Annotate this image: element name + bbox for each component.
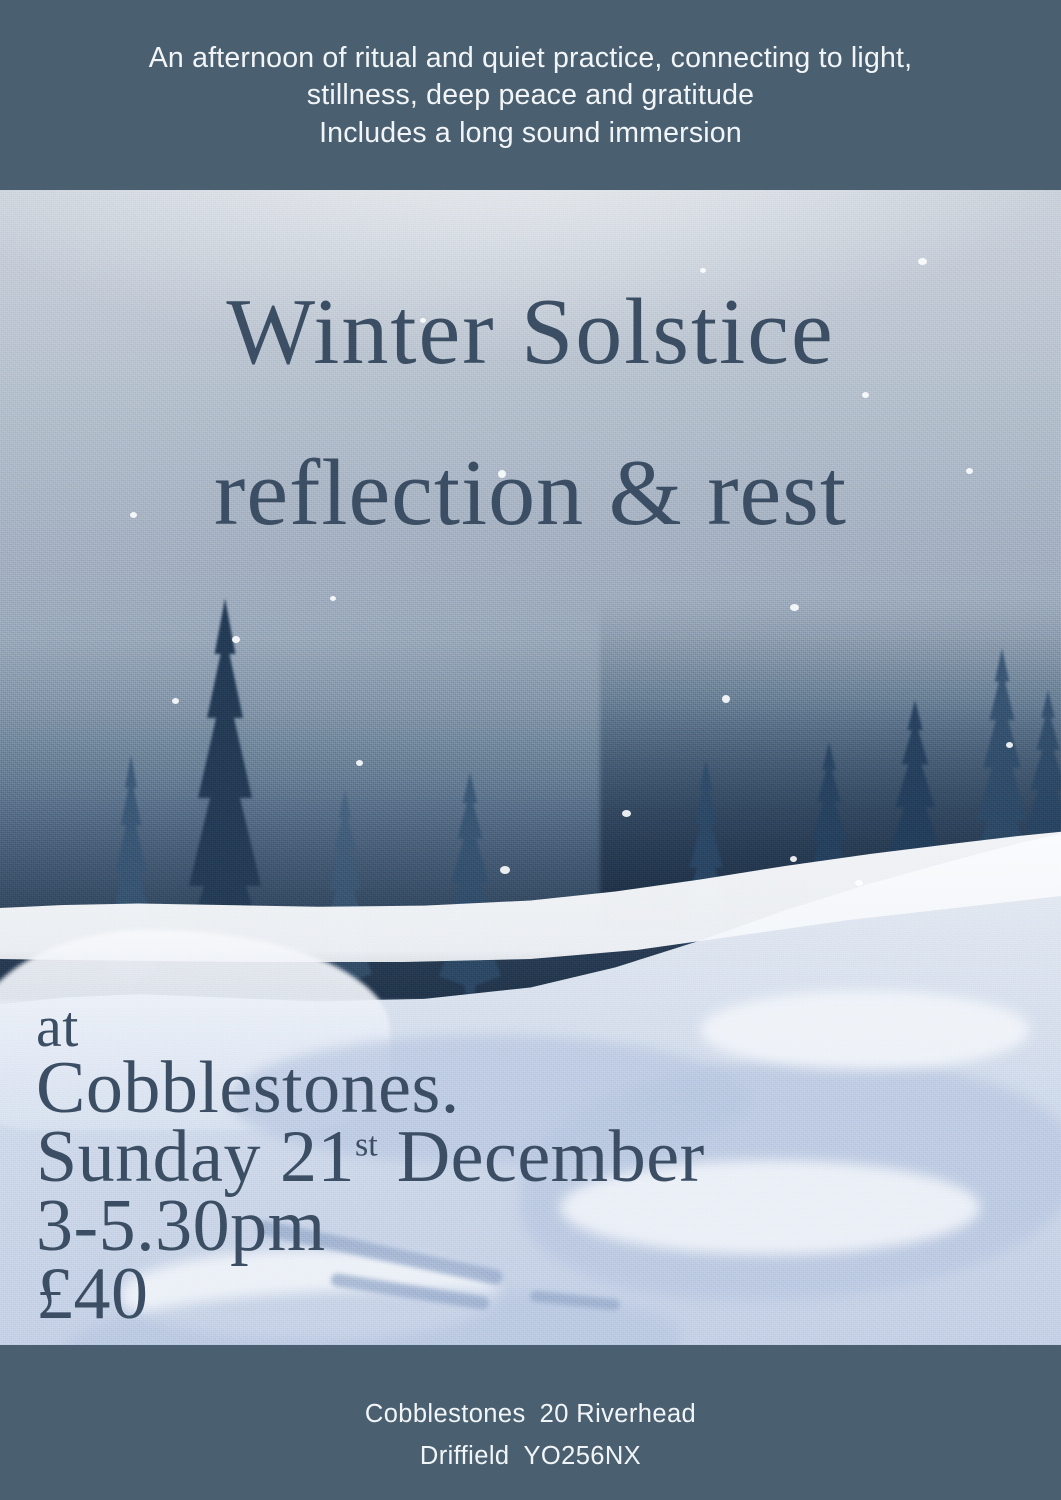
snow-fleck (1006, 742, 1013, 748)
title-line-1: Winter Solstice (0, 283, 1061, 382)
footer-venue-name: Cobblestones (365, 1400, 526, 1428)
header-line-1: An afternoon of ritual and quiet practic… (149, 40, 913, 77)
details-date: Sunday 21st December (36, 1123, 705, 1192)
snow-fleck (330, 596, 336, 601)
details-at: at (36, 1000, 705, 1054)
details-venue: Cobblestones. (36, 1054, 705, 1123)
snow-fleck (722, 695, 730, 703)
title-line-2: reflection & rest (0, 444, 1061, 543)
header-band: An afternoon of ritual and quiet practic… (0, 0, 1061, 190)
details-date-month: December (378, 1116, 705, 1198)
header-line-3: Includes a long sound immersion (319, 115, 742, 152)
footer-town: Driffield (420, 1442, 510, 1470)
poster: An afternoon of ritual and quiet practic… (0, 0, 1061, 1500)
snow-fleck (700, 268, 706, 273)
snow-fleck (790, 856, 797, 862)
poster-title: Winter Solstice reflection & rest (0, 283, 1061, 542)
snow-fleck (232, 636, 240, 643)
footer-postcode: YO256NX (523, 1442, 641, 1470)
header-line-2: stillness, deep peace and gratitude (307, 77, 754, 114)
snow-fleck (356, 760, 363, 766)
details-date-ordinal: st (355, 1126, 378, 1163)
snow-fleck (172, 698, 179, 704)
footer-line-1: Cobblestones20 Riverhead (365, 1398, 696, 1431)
snow-fleck (918, 258, 927, 265)
snow-fleck (790, 604, 799, 611)
snow-fleck (500, 866, 510, 874)
event-details: at Cobblestones. Sunday 21st December 3-… (36, 1000, 705, 1329)
snow-highlight-3 (700, 990, 1030, 1070)
details-price: £40 (36, 1260, 705, 1329)
footer-street: 20 Riverhead (540, 1400, 696, 1428)
footer-band: Cobblestones20 Riverhead DriffieldYO256N… (0, 1345, 1061, 1500)
details-time: 3-5.30pm (36, 1192, 705, 1261)
snow-fleck (622, 810, 631, 817)
snow-fleck (855, 880, 863, 886)
footer-line-2: DriffieldYO256NX (420, 1440, 641, 1473)
